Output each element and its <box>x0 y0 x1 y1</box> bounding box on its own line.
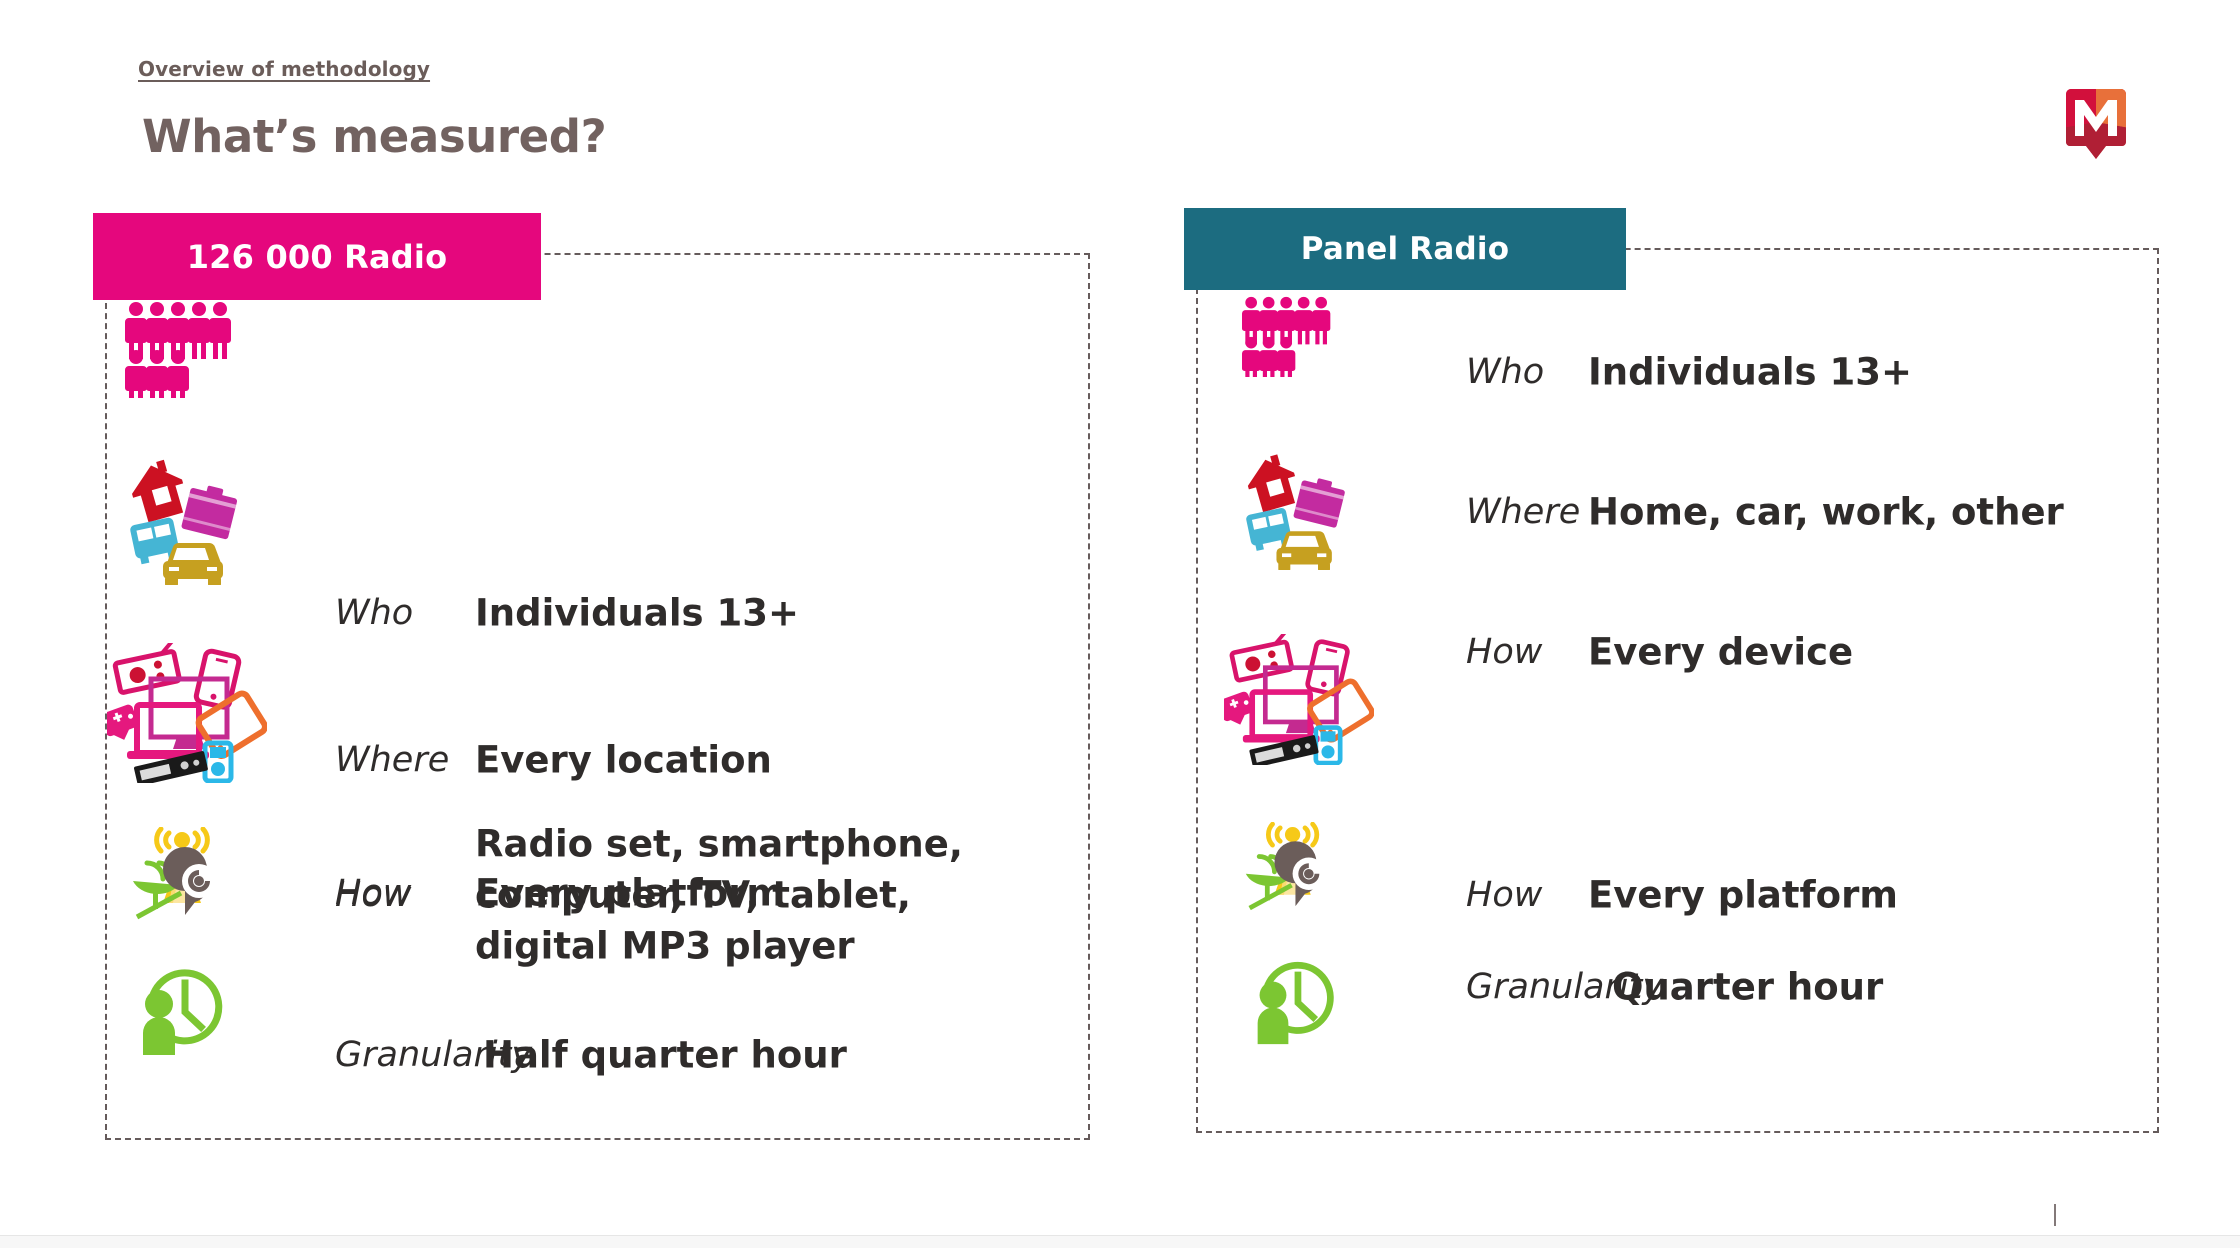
people-group-icon <box>1242 295 1332 377</box>
locations-icon <box>117 455 247 585</box>
panel-rows: Who Individuals 13+ <box>107 255 1088 1138</box>
row-value-where: Home, car, work, other <box>1588 487 2064 538</box>
panel-126000-radio: Who Individuals 13+ <box>105 253 1090 1140</box>
row-label-where: Where <box>335 740 449 780</box>
row-value-where: Every location <box>475 735 772 786</box>
panel-panel-radio: Who Individuals 13+ <box>1196 248 2159 1133</box>
row-label-who: Who <box>335 593 413 633</box>
panel-rows: Who Individuals 13+ <box>1198 250 2157 1131</box>
row-label-where: Where <box>1466 492 1580 532</box>
people-group-icon <box>125 300 233 398</box>
devices-icon <box>1224 634 1374 765</box>
tab-label: Panel Radio <box>1301 231 1509 267</box>
locations-icon <box>1234 450 1354 570</box>
person-clock-icon <box>133 957 235 1057</box>
person-clock-icon <box>1248 950 1346 1046</box>
slide-canvas: Overview of methodology What’s measured? <box>0 0 2240 1235</box>
row-value-how-devices: Every device <box>1588 627 1853 678</box>
tab-label: 126 000 Radio <box>187 238 448 276</box>
row-value-granularity: Quarter hour <box>1612 962 1883 1013</box>
row-value-who: Individuals 13+ <box>1588 347 1912 398</box>
tab-126000-radio[interactable]: 126 000 Radio <box>93 213 541 300</box>
row-value-who: Individuals 13+ <box>475 588 799 639</box>
devices-icon <box>107 643 267 783</box>
m-logo-icon <box>2062 88 2130 166</box>
row-label-who: Who <box>1466 352 1544 392</box>
row-value-how-platform: Every platform <box>475 868 785 919</box>
platforms-icon <box>1242 822 1347 914</box>
slide-eyebrow: Overview of methodology <box>138 57 430 81</box>
row-label-how-platform: How <box>1466 875 1542 915</box>
text-cursor <box>2054 1204 2056 1226</box>
tab-panel-radio[interactable]: Panel Radio <box>1184 208 1626 290</box>
bottom-strip <box>0 1235 2240 1248</box>
platforms-icon <box>129 827 239 923</box>
page-title: What’s measured? <box>142 110 606 163</box>
row-value-granularity: Half quarter hour <box>483 1030 847 1081</box>
row-label-how-devices: How <box>1466 632 1542 672</box>
row-label-how-platform: How <box>335 873 411 913</box>
row-value-how-platform: Every platform <box>1588 870 1898 921</box>
